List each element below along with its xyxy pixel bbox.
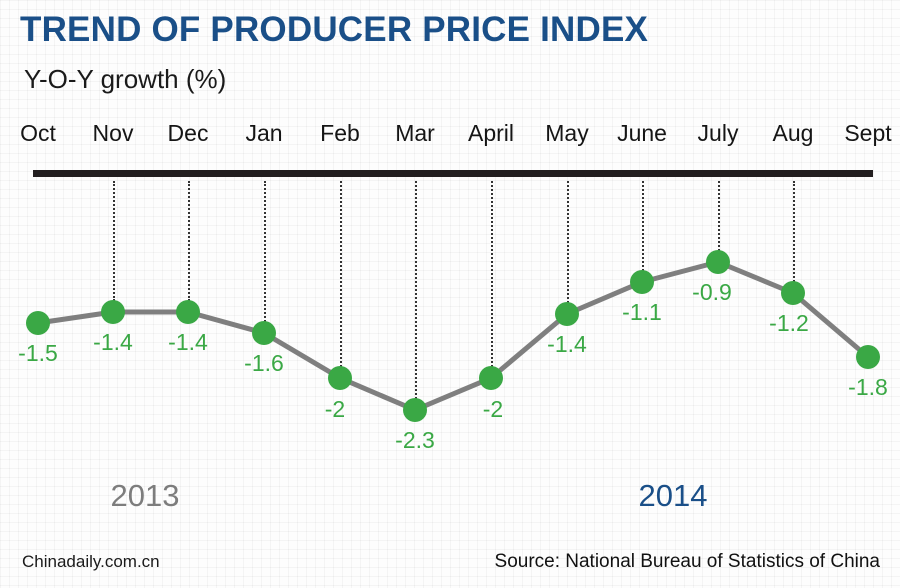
data-point-oct[interactable] [26, 311, 50, 335]
data-point-sept[interactable] [856, 345, 880, 369]
data-point-feb[interactable] [328, 366, 352, 390]
publisher-credit: Chinadaily.com.cn [22, 552, 160, 572]
value-label-feb: -2 [325, 396, 345, 423]
infographic-page: TREND OF PRODUCER PRICE INDEX Y-O-Y grow… [0, 0, 900, 588]
value-label-mar: -2.3 [395, 427, 435, 454]
data-point-jan[interactable] [252, 321, 276, 345]
data-point-july[interactable] [706, 250, 730, 274]
data-point-dec[interactable] [176, 300, 200, 324]
source-credit: Source: National Bureau of Statistics of… [495, 551, 880, 573]
value-label-june: -1.1 [622, 299, 662, 326]
year-label-2014: 2014 [639, 478, 708, 514]
series-line [38, 262, 868, 410]
data-point-mar[interactable] [403, 398, 427, 422]
value-label-dec: -1.4 [168, 329, 208, 356]
value-label-nov: -1.4 [93, 329, 133, 356]
value-label-jan: -1.6 [244, 350, 284, 377]
value-label-oct: -1.5 [18, 340, 58, 367]
data-point-nov[interactable] [101, 300, 125, 324]
data-point-aug[interactable] [781, 281, 805, 305]
year-label-2013: 2013 [111, 478, 180, 514]
data-point-april[interactable] [479, 366, 503, 390]
value-label-aug: -1.2 [769, 310, 809, 337]
value-label-july: -0.9 [692, 279, 732, 306]
value-label-sept: -1.8 [848, 374, 888, 401]
value-label-april: -2 [483, 396, 503, 423]
data-point-june[interactable] [630, 270, 654, 294]
value-label-may: -1.4 [547, 331, 587, 358]
data-point-may[interactable] [555, 302, 579, 326]
